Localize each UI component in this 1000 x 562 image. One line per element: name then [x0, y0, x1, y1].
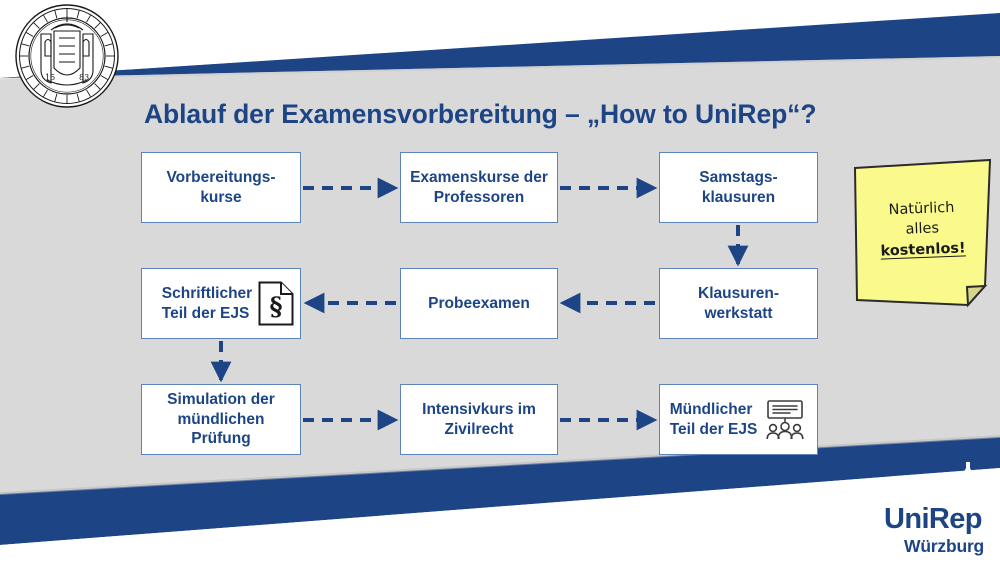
note-line-2: alles: [905, 219, 939, 241]
logo-secondary-text: Würzburg: [904, 536, 984, 557]
sticky-note-text: Natürlich alles kostenlos!: [846, 155, 999, 314]
note-line-3: kostenlos!: [880, 238, 966, 262]
sticky-note: Natürlich alles kostenlos!: [849, 158, 996, 311]
slide-canvas: 15 83 Ablauf der Examensvorbereitung – „…: [0, 0, 1000, 562]
logo-primary-text: UniRep: [884, 503, 982, 536]
note-line-1: Natürlich: [888, 197, 955, 220]
unirep-logo: UniRep Würzburg: [884, 462, 1000, 562]
